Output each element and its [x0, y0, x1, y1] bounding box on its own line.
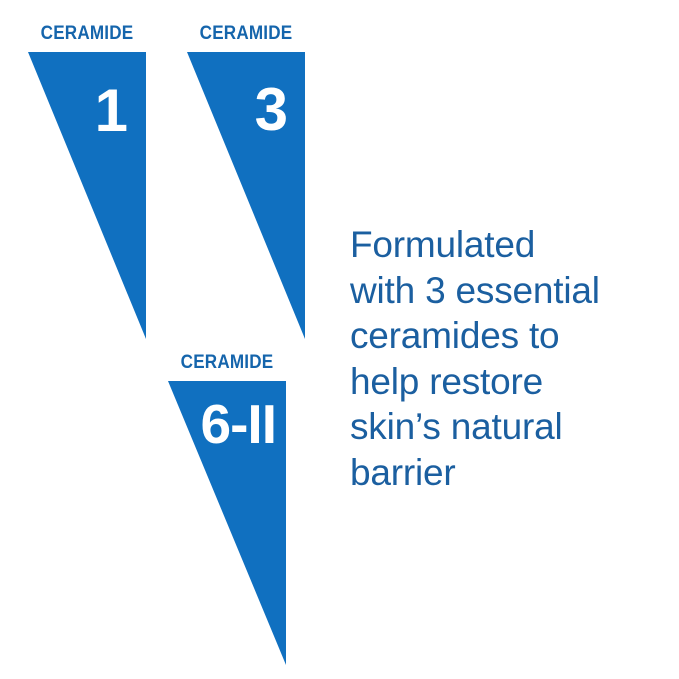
ceramide-6ii-number: 6-II	[201, 397, 276, 452]
body-copy-line: with 3 essential	[350, 268, 650, 314]
ceramide-6ii-label: CERAMIDE	[174, 353, 280, 373]
body-copy-line: help restore	[350, 359, 650, 405]
ceramide-3-number: 3	[255, 80, 288, 140]
body-copy-line: ceramides to	[350, 313, 650, 359]
body-copy-line: barrier	[350, 450, 650, 496]
ceramide-3-label: CERAMIDE	[193, 24, 299, 44]
ceramide-1-number: 1	[95, 81, 128, 141]
ceramide-1-label: CERAMIDE	[34, 24, 140, 44]
ceramides-infographic: CERAMIDE 1 CERAMIDE 3 CERAMIDE 6-II Form…	[0, 0, 679, 679]
body-copy: Formulated with 3 essential ceramides to…	[350, 222, 650, 495]
body-copy-line: Formulated	[350, 222, 650, 268]
ceramide-1-wedge-shape	[28, 52, 146, 339]
body-copy-line: skin’s natural	[350, 404, 650, 450]
ceramide-wedge-3: CERAMIDE 3	[187, 24, 305, 339]
wedge-triangle-icon	[28, 52, 146, 339]
ceramide-wedge-1: CERAMIDE 1	[28, 24, 146, 339]
ceramide-wedge-6ii: CERAMIDE 6-II	[168, 353, 286, 665]
